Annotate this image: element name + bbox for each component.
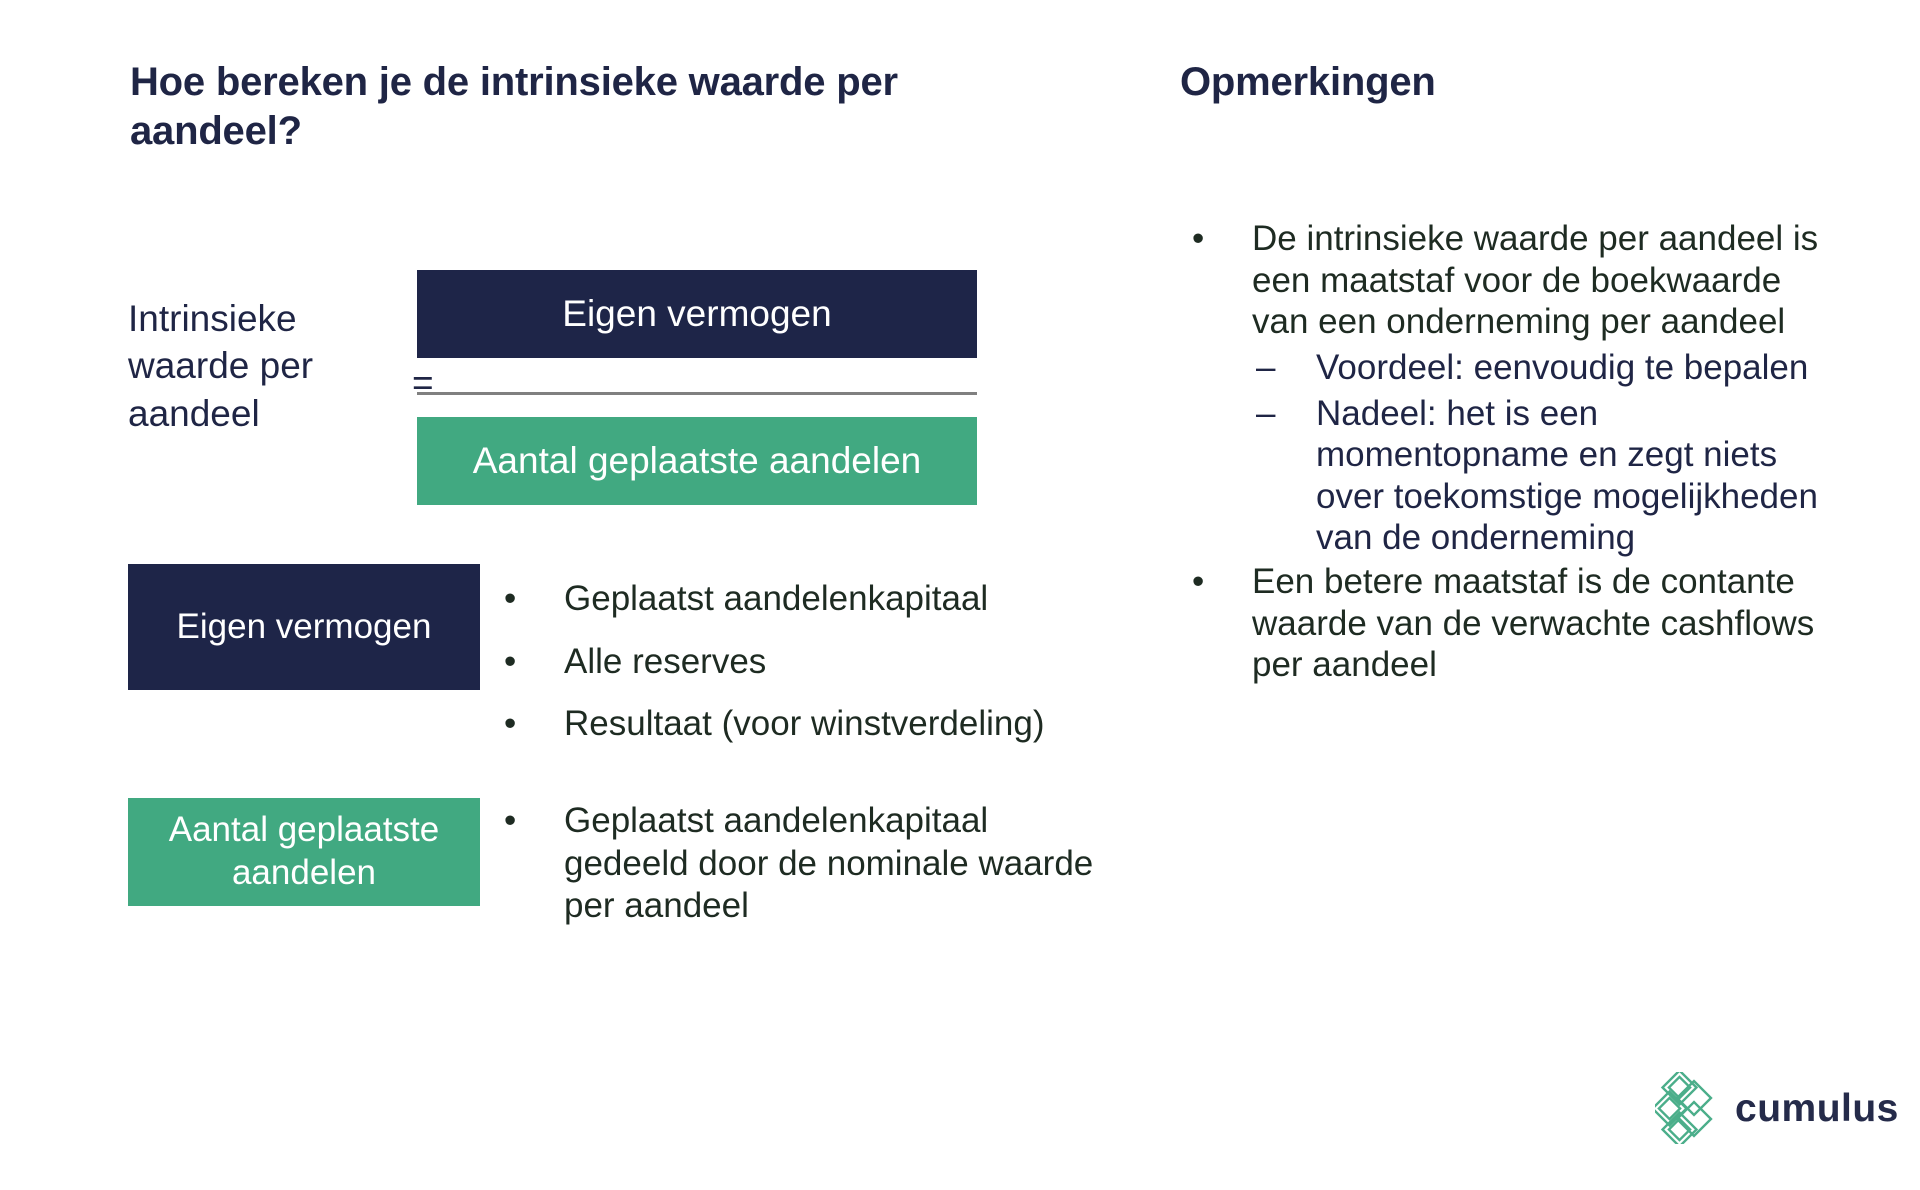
notes-item-label: Een betere maatstaf is de contante waard… bbox=[1252, 562, 1814, 684]
list-item-label: Geplaatst aandelenkapitaal gedeeld door … bbox=[564, 801, 1093, 925]
notes-item: • De intrinsieke waarde per aandeel is e… bbox=[1190, 218, 1830, 559]
formula-label: Intrinsieke waarde per aandeel bbox=[128, 295, 398, 437]
list-item-label: Resultaat (voor winstverdeling) bbox=[564, 704, 1044, 743]
bullet-dash-icon: – bbox=[1256, 347, 1275, 389]
list-item: • Resultaat (voor winstverdeling) bbox=[502, 703, 1142, 746]
notes-subitem-label: Nadeel: het is een momentopname en zegt … bbox=[1316, 394, 1818, 558]
numerator-box: Eigen vermogen bbox=[417, 270, 977, 358]
formula-block: Intrinsieke waarde per aandeel = Eigen v… bbox=[128, 270, 988, 510]
fraction-rule bbox=[417, 392, 977, 395]
bullet-dot-icon: • bbox=[504, 641, 516, 684]
bullet-dot-icon: • bbox=[1192, 561, 1204, 603]
slide-canvas: Hoe bereken je de intrinsieke waarde per… bbox=[0, 0, 1920, 1190]
list-item: • Geplaatst aandelenkapitaal bbox=[502, 578, 1142, 621]
cumulus-logo-mark bbox=[1655, 1072, 1721, 1144]
denominator-box: Aantal geplaatste aandelen bbox=[417, 417, 977, 505]
list-item: • Alle reserves bbox=[502, 641, 1142, 684]
page-title: Hoe bereken je de intrinsieke waarde per… bbox=[130, 58, 930, 156]
notes-sublist: – Voordeel: eenvoudig te bepalen – Nadee… bbox=[1252, 347, 1830, 559]
list-item: • Geplaatst aandelenkapitaal gedeeld doo… bbox=[502, 800, 1102, 928]
brand-logo: cumulus bbox=[1655, 1072, 1899, 1144]
notes-list: • De intrinsieke waarde per aandeel is e… bbox=[1190, 218, 1830, 688]
list-aantal-geplaatste-aandelen: • Geplaatst aandelenkapitaal gedeeld doo… bbox=[502, 800, 1102, 928]
bullet-dot-icon: • bbox=[504, 703, 516, 746]
notes-item-label: De intrinsieke waarde per aandeel is een… bbox=[1252, 219, 1818, 341]
notes-subitem: – Voordeel: eenvoudig te bepalen bbox=[1252, 347, 1830, 389]
notes-subitem-label: Voordeel: eenvoudig te bepalen bbox=[1316, 348, 1808, 387]
fraction: Eigen vermogen Aantal geplaatste aandele… bbox=[417, 270, 977, 505]
bullet-dot-icon: • bbox=[1192, 218, 1204, 260]
list-item-label: Geplaatst aandelenkapitaal bbox=[564, 579, 988, 618]
notes-item: • Een betere maatstaf is de contante waa… bbox=[1190, 561, 1830, 686]
label-box-aantal-geplaatste-aandelen: Aantal geplaatste aandelen bbox=[128, 798, 480, 906]
notes-subitem: – Nadeel: het is een momentopname en zeg… bbox=[1252, 393, 1830, 560]
list-eigen-vermogen: • Geplaatst aandelenkapitaal • Alle rese… bbox=[502, 578, 1142, 766]
notes-title: Opmerkingen bbox=[1180, 58, 1740, 107]
cumulus-logo-wordmark: cumulus bbox=[1735, 1089, 1899, 1128]
bullet-dot-icon: • bbox=[504, 578, 516, 621]
list-item-label: Alle reserves bbox=[564, 642, 766, 681]
bullet-dot-icon: • bbox=[504, 800, 516, 843]
bullet-dash-icon: – bbox=[1256, 393, 1275, 435]
label-box-eigen-vermogen: Eigen vermogen bbox=[128, 564, 480, 690]
